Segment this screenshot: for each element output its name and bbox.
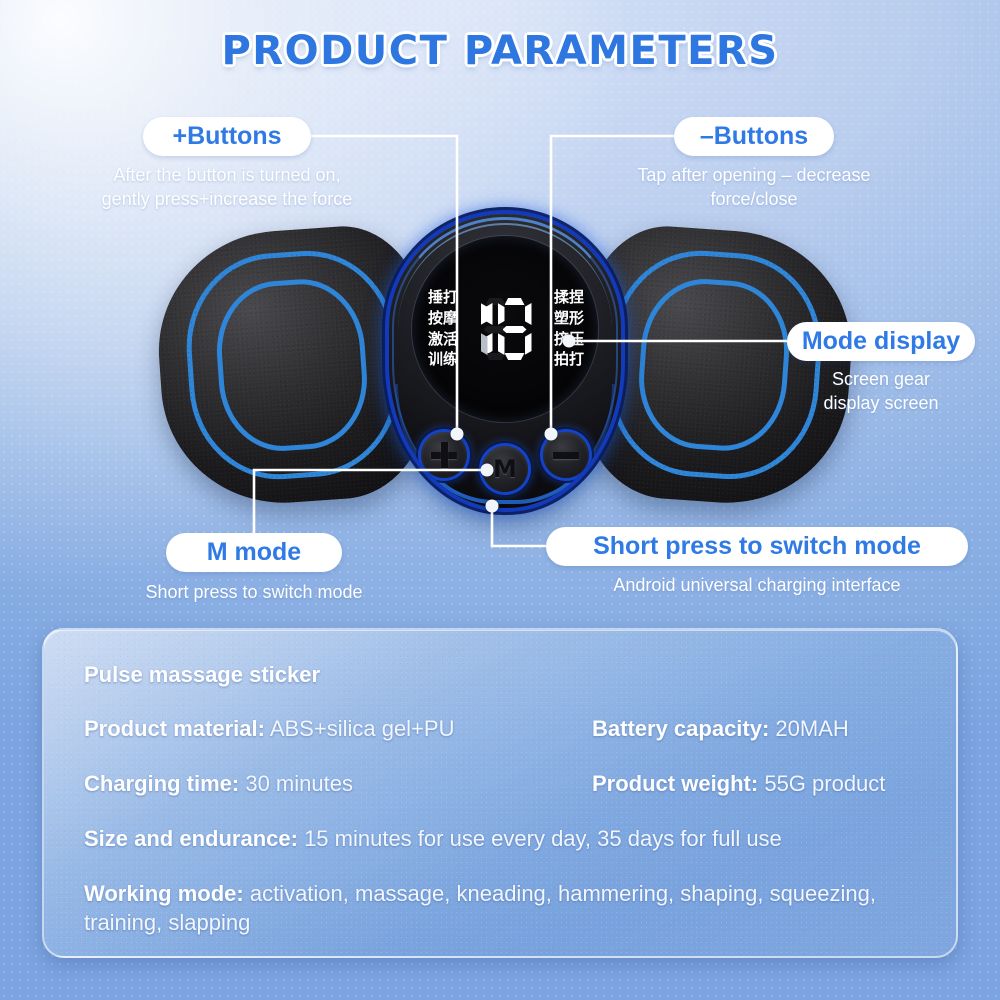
mode-label-ji-huo: 激活 [428,332,458,348]
callout-minus-buttons-desc-line1: Tap after opening – decrease [575,163,933,187]
callout-minus-buttons-description: Tap after opening – decrease force/close [575,163,933,212]
spec-rows: Product material: ABS+silica gel+PU Batt… [84,714,916,937]
mode-label-chui-da: 捶打 [428,290,458,306]
callout-m-mode-desc-line1: Short press to switch mode [138,580,370,604]
spec-value-charging-time: 30 minutes [239,771,353,796]
spec-value-size-endurance: 15 minutes for use every day, 35 days fo… [298,826,782,851]
callout-mode-display-desc-line2: display screen [790,391,972,415]
callout-mode-display-label: Mode display [802,327,960,356]
mode-list-left: 捶打 按摩 激活 训练 [422,290,479,368]
spec-key-working-mode: Working mode: [84,881,244,906]
spec-panel-heading: Pulse massage sticker [84,662,916,688]
callout-charging-port-description: Android universal charging interface [557,573,957,597]
callout-charging-port[interactable]: Short press to switch mode [546,527,968,566]
mode-label-su-xing: 塑形 [554,311,584,327]
callout-plus-buttons-desc-line2: gently press+increase the force [48,187,406,211]
spec-key-battery-capacity: Battery capacity: [592,716,769,741]
seven-segment-digit-ones [498,298,532,360]
callout-mode-display[interactable]: Mode display [787,322,975,361]
mode-label-rou-nie: 揉捏 [554,290,584,306]
spec-row-product-weight: Product weight: 55G product [592,769,916,798]
seven-segment-digit-tens [479,298,495,360]
spec-key-product-material: Product material: [84,716,265,741]
callout-charging-port-label: Short press to switch mode [593,532,921,561]
spec-row-product-material: Product material: ABS+silica gel+PU [84,714,592,743]
mode-display-screen: 捶打 按摩 激活 训练 [412,236,598,422]
massage-device-image: 捶打 按摩 激活 训练 [160,212,850,532]
page-title: PRODUCT PARAMETERS [0,28,1000,74]
mode-label-pai-da: 拍打 [554,352,584,368]
spec-row-working-mode: Working mode: activation, massage, knead… [84,879,916,937]
spec-key-size-endurance: Size and endurance: [84,826,298,851]
leader-dot-plus-button [451,428,464,441]
callout-charging-port-desc-line1: Android universal charging interface [557,573,957,597]
callout-plus-buttons[interactable]: +Buttons [143,117,311,156]
mode-list-right: 揉捏 塑形 挤压 拍打 [532,290,589,368]
product-parameters-page: PRODUCT PARAMETERS +Buttons After the bu… [0,0,1000,1000]
spec-value-product-material: ABS+silica gel+PU [265,716,455,741]
callout-m-mode-label: M mode [207,538,301,567]
callout-plus-buttons-label: +Buttons [172,122,281,151]
callout-mode-display-desc-line1: Screen gear [790,367,972,391]
spec-row-battery-capacity: Battery capacity: 20MAH [592,714,916,743]
mode-label-an-mo: 按摩 [428,311,458,327]
callout-minus-buttons-label: –Buttons [700,122,808,151]
leader-dot-charging-port [486,500,499,513]
callout-plus-buttons-desc-line1: After the button is turned on, [48,163,406,187]
spec-value-product-weight: 55G product [758,771,885,796]
leader-dot-minus-button [545,428,558,441]
callout-minus-buttons[interactable]: –Buttons [674,117,834,156]
spec-row-charging-time: Charging time: 30 minutes [84,769,592,798]
spec-key-product-weight: Product weight: [592,771,758,796]
specification-panel: Pulse massage sticker Product material: … [42,628,958,958]
spec-value-battery-capacity: 20MAH [769,716,848,741]
callout-m-mode-description: Short press to switch mode [138,580,370,604]
level-digit-display [479,298,532,360]
callout-minus-buttons-desc-line2: force/close [575,187,933,211]
callout-plus-buttons-description: After the button is turned on, gently pr… [48,163,406,212]
spec-key-charging-time: Charging time: [84,771,239,796]
minus-icon [553,442,579,468]
leader-dot-m-button [481,464,494,477]
plus-icon [431,442,457,468]
callout-m-mode[interactable]: M mode [166,533,342,572]
callout-mode-display-description: Screen gear display screen [790,367,972,416]
device-control-hub: 捶打 按摩 激活 训练 [389,214,621,508]
mode-label-xun-lian: 训练 [428,352,458,368]
leader-dot-mode-display [563,335,576,348]
spec-row-size-endurance: Size and endurance: 15 minutes for use e… [84,824,916,853]
m-icon: M [493,457,517,481]
